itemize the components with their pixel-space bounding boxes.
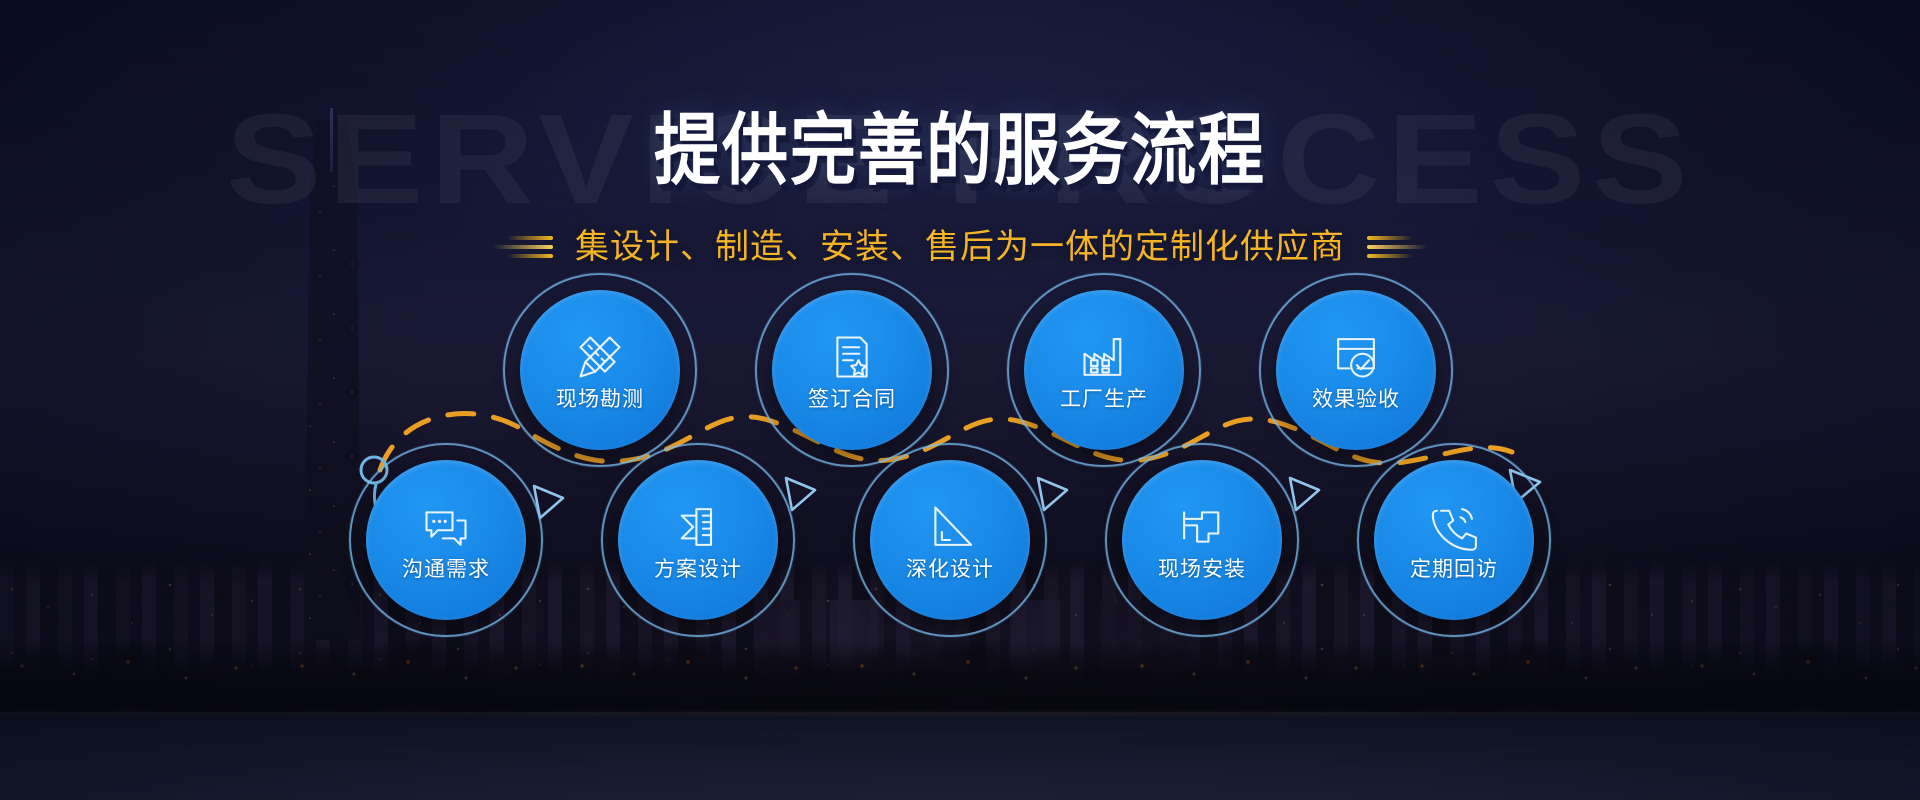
pencil-ruler-icon [574,331,626,383]
factory-icon [1078,331,1130,383]
flow-step-2[interactable]: 现场勘测 [520,290,680,450]
process-flow: 沟通需求 现场勘测 [0,0,1920,800]
power-drill-icon [1176,501,1228,553]
window-check-icon [1330,331,1382,383]
flow-step-1-label: 沟通需求 [402,559,490,580]
flow-step-2-label: 现场勘测 [556,389,644,410]
service-process-banner: SERVICE PROCESS 提供完善的服务流程 集设计、制造、安装、售后为一… [0,0,1920,800]
flow-step-6[interactable]: 工厂生产 [1024,290,1184,450]
flow-connector-path [0,0,1920,800]
flow-step-7-label: 现场安装 [1158,559,1246,580]
flow-step-8-label: 效果验收 [1312,389,1400,410]
flow-step-7[interactable]: 现场安装 [1122,460,1282,620]
flow-step-6-label: 工厂生产 [1060,389,1148,410]
set-square-icon [924,501,976,553]
contract-seal-icon [826,331,878,383]
chat-bubble-icon [420,501,472,553]
flow-step-9[interactable]: 定期回访 [1374,460,1534,620]
flow-step-1[interactable]: 沟通需求 [366,460,526,620]
flow-step-9-label: 定期回访 [1410,559,1498,580]
flow-step-3-label: 方案设计 [654,559,742,580]
flow-step-4-label: 签订合同 [808,389,896,410]
flow-step-5[interactable]: 深化设计 [870,460,1030,620]
flow-step-8[interactable]: 效果验收 [1276,290,1436,450]
phone-ring-icon [1428,501,1480,553]
flow-step-3[interactable]: 方案设计 [618,460,778,620]
ruler-scale-icon [672,501,724,553]
flow-step-4[interactable]: 签订合同 [772,290,932,450]
flow-step-5-label: 深化设计 [906,559,994,580]
